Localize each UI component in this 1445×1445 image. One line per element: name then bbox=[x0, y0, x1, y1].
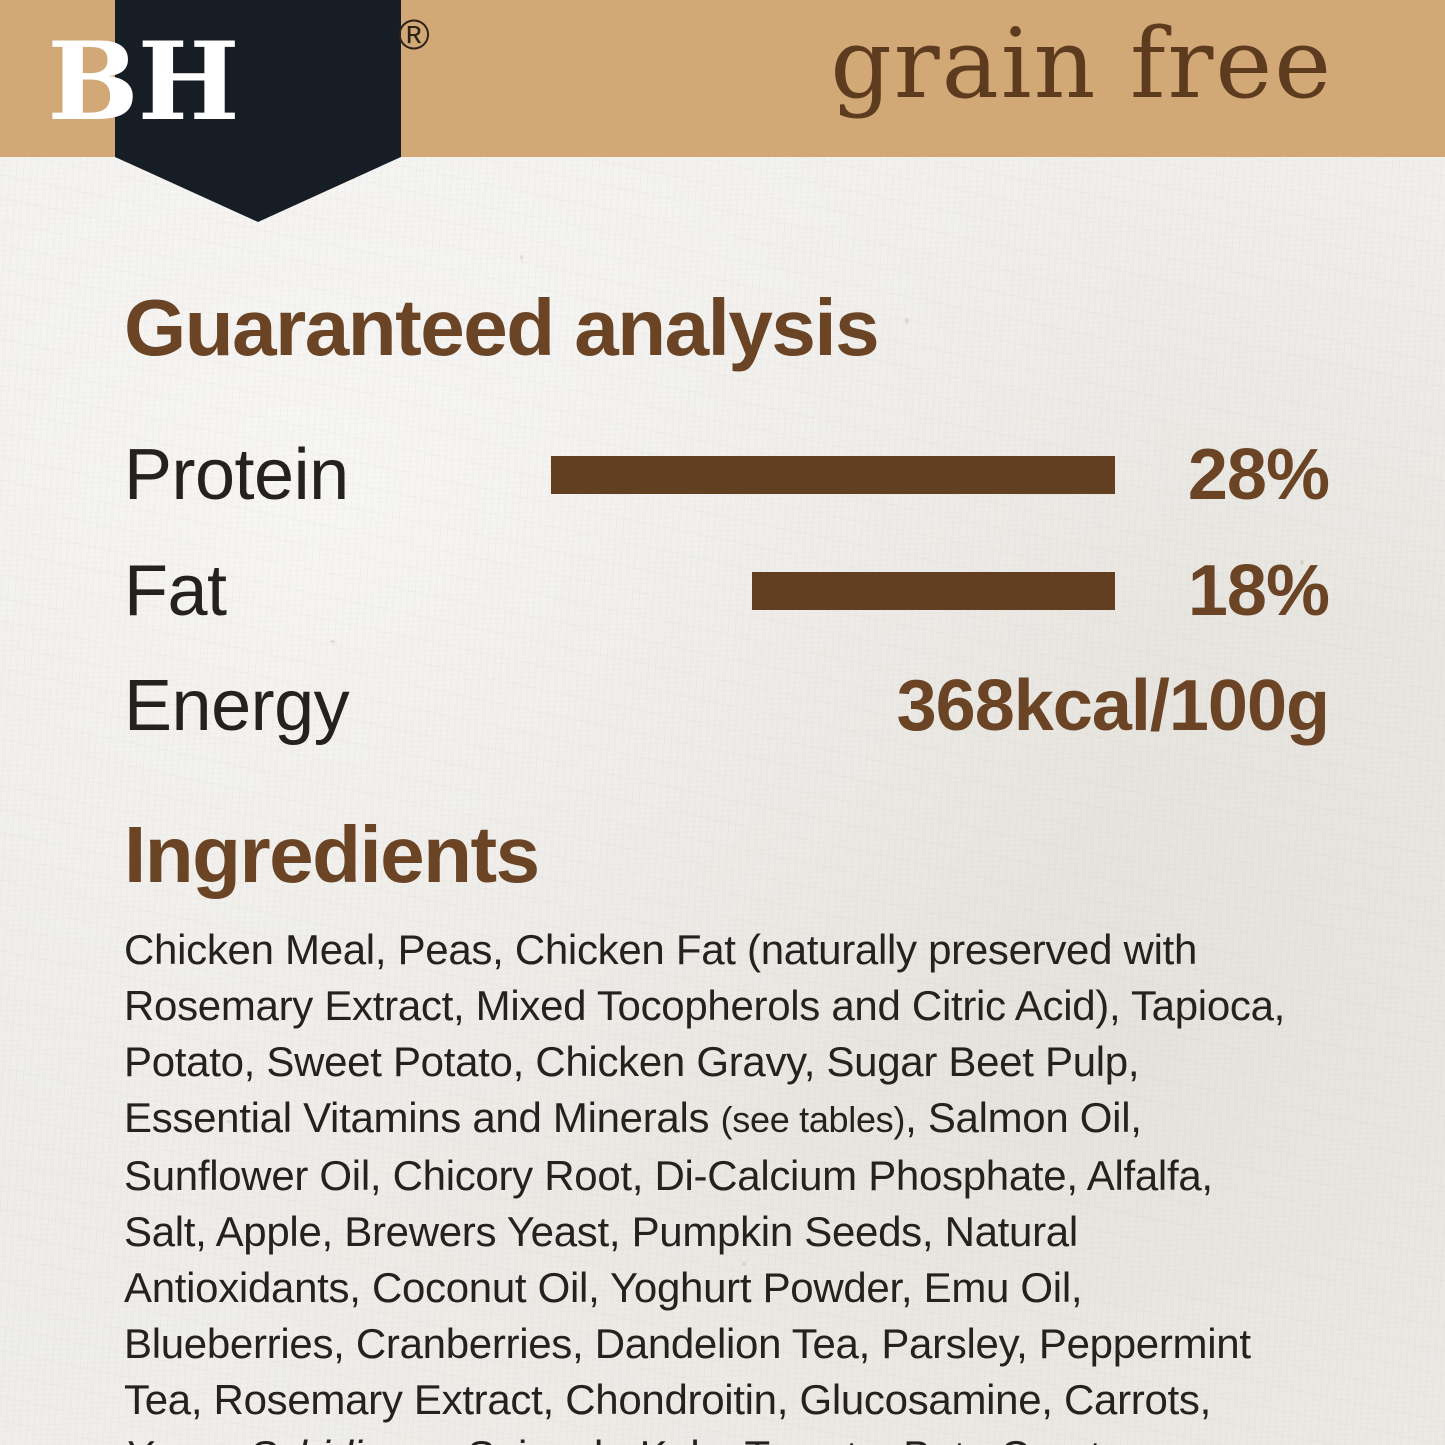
ingredients-latin-name: Yucca Schidigera bbox=[124, 1432, 445, 1445]
nutrient-value-protein: 28% bbox=[1129, 439, 1329, 511]
bar-fill-fat bbox=[752, 572, 1115, 610]
nutrient-value-energy: 368kcal/100g bbox=[487, 670, 1329, 742]
bar-fill-protein bbox=[551, 456, 1115, 494]
nutrient-label-protein: Protein bbox=[124, 439, 487, 511]
nutrient-label-fat: Fat bbox=[124, 555, 487, 627]
ingredients-list-text: Chicken Meal, Peas, Chicken Fat (natural… bbox=[124, 922, 1292, 1445]
grain-free-tagline: grain free bbox=[830, 16, 1333, 112]
bar-track-fat bbox=[487, 571, 1115, 611]
nutrient-value-fat: 18% bbox=[1129, 555, 1329, 627]
guaranteed-analysis-heading: Guaranteed analysis bbox=[124, 288, 878, 368]
brand-logo-text: BH bbox=[0, 28, 286, 136]
bar-track-protein bbox=[487, 455, 1115, 495]
analysis-row-protein: Protein 28% bbox=[124, 429, 1329, 521]
paper-speck bbox=[520, 255, 523, 260]
analysis-row-fat: Fat 18% bbox=[124, 545, 1329, 637]
ingredients-text-mid: , Salmon Oil, Sunflower Oil, Chicory Roo… bbox=[124, 1094, 1251, 1423]
ingredients-heading: Ingredients bbox=[124, 815, 539, 895]
paper-speck bbox=[330, 640, 335, 643]
ingredients-text-tail: , Spinach, Kelp, Tomato, Beta Carotene. bbox=[445, 1432, 1182, 1445]
product-label-panel: grain free BH ® Guaranteed analysis Prot… bbox=[0, 0, 1445, 1445]
ingredients-see-tables-note: (see tables) bbox=[721, 1099, 906, 1140]
paper-speck bbox=[905, 318, 909, 324]
registered-trademark-icon: ® bbox=[398, 14, 430, 57]
nutrient-label-energy: Energy bbox=[124, 670, 487, 742]
analysis-row-energy: Energy 368kcal/100g bbox=[124, 660, 1329, 752]
